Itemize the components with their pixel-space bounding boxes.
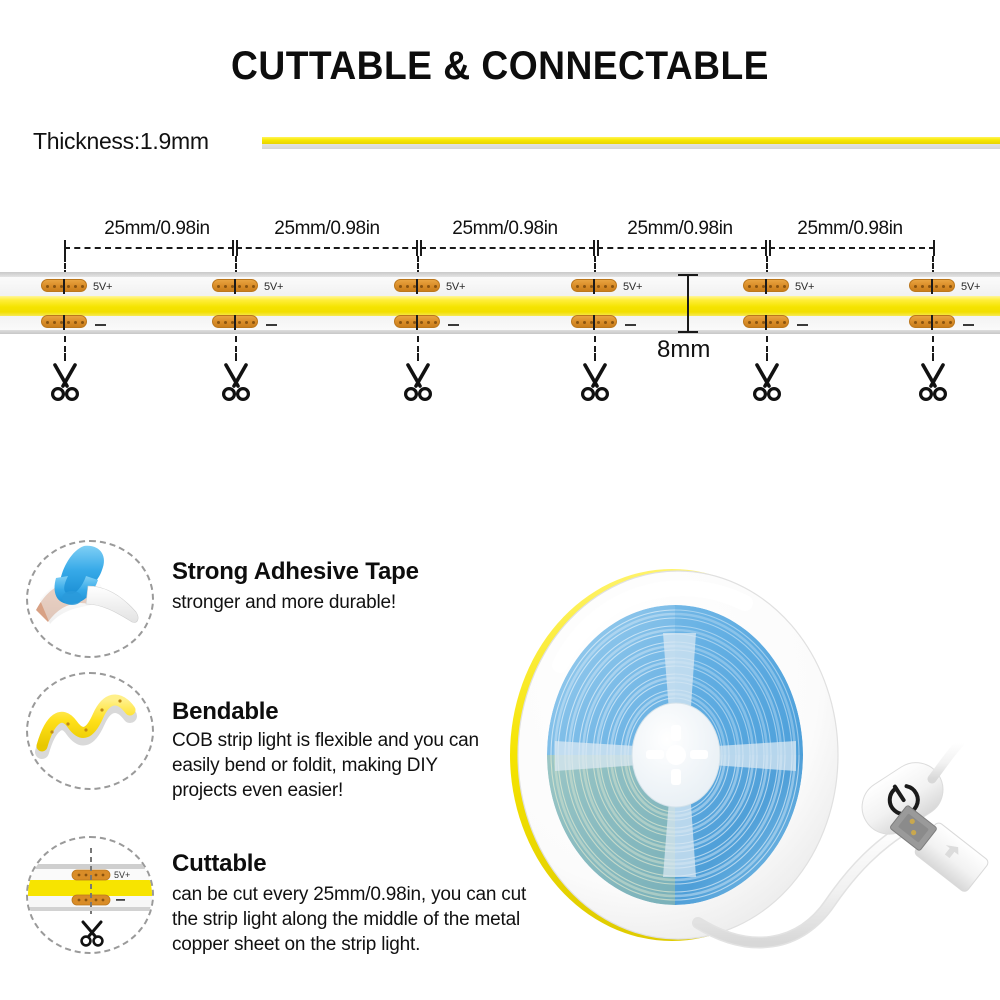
solder-pad-positive-2 <box>212 279 258 292</box>
scissors-icon-5 <box>750 363 784 403</box>
scissors-icon-2 <box>219 363 253 403</box>
pad-label-positive-5: 5V+ <box>795 281 814 293</box>
pad-cut-mark <box>765 279 767 294</box>
scissors-icon-3 <box>401 363 435 403</box>
bendable-strip-icon <box>26 672 154 790</box>
pad-cut-mark <box>765 315 767 330</box>
pad-cut-mark <box>234 315 236 330</box>
pad-cut-mark <box>416 279 418 294</box>
measure-bracket-5 <box>769 247 935 249</box>
adhesive-tape-glyph <box>28 542 152 656</box>
pad-dots <box>748 320 786 325</box>
cut-guide-lower-3 <box>417 336 419 352</box>
strip-width-label: 8mm <box>657 336 710 364</box>
pad-cut-mark <box>416 315 418 330</box>
feature-title-cuttable: Cuttable <box>172 850 266 878</box>
pad-dots <box>217 320 255 325</box>
pad-label-positive-1: 5V+ <box>93 281 112 293</box>
pad-dots <box>748 284 786 289</box>
scissors-glyph <box>219 363 253 403</box>
pad-label-positive-3: 5V+ <box>446 281 465 293</box>
scissors-tick <box>594 353 596 361</box>
pad-label-negative-4 <box>625 324 636 326</box>
scissors-tick <box>417 353 419 361</box>
dimension-cap-bottom <box>678 331 698 333</box>
cuttable-strip-icon: 5V+ <box>26 836 154 954</box>
scissors-tick <box>766 353 768 361</box>
bracket-tick-right <box>933 240 935 256</box>
pad-label-positive-4: 5V+ <box>623 281 642 293</box>
solder-pad-negative-2 <box>212 315 258 328</box>
bracket-dash <box>420 247 595 249</box>
thickness-bar <box>262 137 1000 148</box>
page-title: CUTTABLE & CONNECTABLE <box>35 44 965 89</box>
feature-title-adhesive: Strong Adhesive Tape <box>172 558 419 586</box>
cut-guide-lower-2 <box>235 336 237 352</box>
cut-guide-lower-5 <box>766 336 768 352</box>
segment-label-2: 25mm/0.98in <box>274 218 379 240</box>
scissors-tick <box>235 353 237 361</box>
pad-dots <box>399 320 437 325</box>
scissors-tick <box>932 353 934 361</box>
dimension-line <box>687 274 689 333</box>
scissors-glyph <box>401 363 435 403</box>
bracket-tick-right <box>232 240 234 256</box>
cut-guide-lower-6 <box>932 336 934 352</box>
pad-cut-mark <box>931 279 933 294</box>
pad-cut-mark <box>931 315 933 330</box>
thickness-label: Thickness:1.9mm <box>33 128 209 155</box>
scissors-glyph <box>750 363 784 403</box>
pad-label-positive-2: 5V+ <box>264 281 283 293</box>
bendable-strip-glyph <box>28 674 152 788</box>
pad-cut-mark <box>234 279 236 294</box>
scissors-icon-4 <box>578 363 612 403</box>
pad-dots <box>576 284 614 289</box>
bracket-tick-left <box>236 240 238 256</box>
cut-guide-lower-4 <box>594 336 596 352</box>
adhesive-tape-icon <box>26 540 154 658</box>
scissors-tick <box>64 353 66 361</box>
solder-pad-positive-6 <box>909 279 955 292</box>
bracket-tick-left <box>597 240 599 256</box>
cut-guide-lower-1 <box>64 336 66 352</box>
pad-label-negative-6 <box>963 324 974 326</box>
feature-body-bendable: COB strip light is flexible and you can … <box>172 728 482 803</box>
solder-pad-negative-1 <box>41 315 87 328</box>
feature-body-cuttable: can be cut every 25mm/0.98in, you can cu… <box>172 882 542 957</box>
bracket-tick-right <box>765 240 767 256</box>
product-image <box>500 555 1000 975</box>
bracket-dash <box>64 247 234 249</box>
measure-bracket-2 <box>236 247 418 249</box>
pad-cut-mark <box>593 315 595 330</box>
pad-label-negative-1 <box>95 324 106 326</box>
scissors-glyph <box>48 363 82 403</box>
pad-dots <box>399 284 437 289</box>
bracket-tick-left <box>64 240 66 256</box>
bracket-tick-right <box>416 240 418 256</box>
segment-label-4: 25mm/0.98in <box>627 218 732 240</box>
cuttable-strip-glyph: 5V+ <box>28 838 152 952</box>
feature-body-adhesive: stronger and more durable! <box>172 590 552 615</box>
pad-dots <box>914 284 952 289</box>
bracket-tick-left <box>769 240 771 256</box>
pad-cut-mark <box>593 279 595 294</box>
strip-pcb-top <box>0 277 1000 296</box>
scissors-glyph <box>578 363 612 403</box>
measure-bracket-1 <box>64 247 234 249</box>
feature-title-bendable: Bendable <box>172 698 278 726</box>
solder-pad-negative-4 <box>571 315 617 328</box>
measure-bracket-3 <box>420 247 595 249</box>
bracket-dash <box>236 247 418 249</box>
bracket-dash <box>769 247 935 249</box>
thickness-bar-base <box>262 144 1000 149</box>
svg-text:5V+: 5V+ <box>114 870 130 880</box>
segment-label-1: 25mm/0.98in <box>104 218 209 240</box>
solder-pad-positive-4 <box>571 279 617 292</box>
led-strip-diagram <box>0 272 1000 334</box>
pad-label-negative-3 <box>448 324 459 326</box>
bracket-tick-right <box>593 240 595 256</box>
bracket-dash <box>597 247 767 249</box>
solder-pad-negative-5 <box>743 315 789 328</box>
solder-pad-positive-1 <box>41 279 87 292</box>
thickness-bar-yellow <box>262 137 1000 144</box>
pad-dots <box>46 320 84 325</box>
pad-label-negative-5 <box>797 324 808 326</box>
measure-bracket-4 <box>597 247 767 249</box>
led-strip-reel <box>500 555 1000 975</box>
scissors-icon-1 <box>48 363 82 403</box>
scissors-icon-6 <box>916 363 950 403</box>
strip-light-emitting-area <box>0 296 1000 316</box>
pad-cut-mark <box>63 279 65 294</box>
solder-pad-positive-5 <box>743 279 789 292</box>
pad-cut-mark <box>63 315 65 330</box>
strip-edge-bottom <box>0 330 1000 334</box>
pad-dots <box>914 320 952 325</box>
solder-pad-negative-6 <box>909 315 955 328</box>
segment-label-5: 25mm/0.98in <box>797 218 902 240</box>
infographic-page: CUTTABLE & CONNECTABLE Thickness:1.9mm 2… <box>0 0 1000 1000</box>
scissors-glyph <box>916 363 950 403</box>
pad-label-negative-2 <box>266 324 277 326</box>
segment-label-3: 25mm/0.98in <box>452 218 557 240</box>
pad-label-positive-6: 5V+ <box>961 281 980 293</box>
pad-dots <box>46 284 84 289</box>
bracket-tick-left <box>420 240 422 256</box>
solder-pad-negative-3 <box>394 315 440 328</box>
solder-pad-positive-3 <box>394 279 440 292</box>
strip-pcb-bottom <box>0 316 1000 330</box>
pad-dots <box>217 284 255 289</box>
pad-dots <box>576 320 614 325</box>
